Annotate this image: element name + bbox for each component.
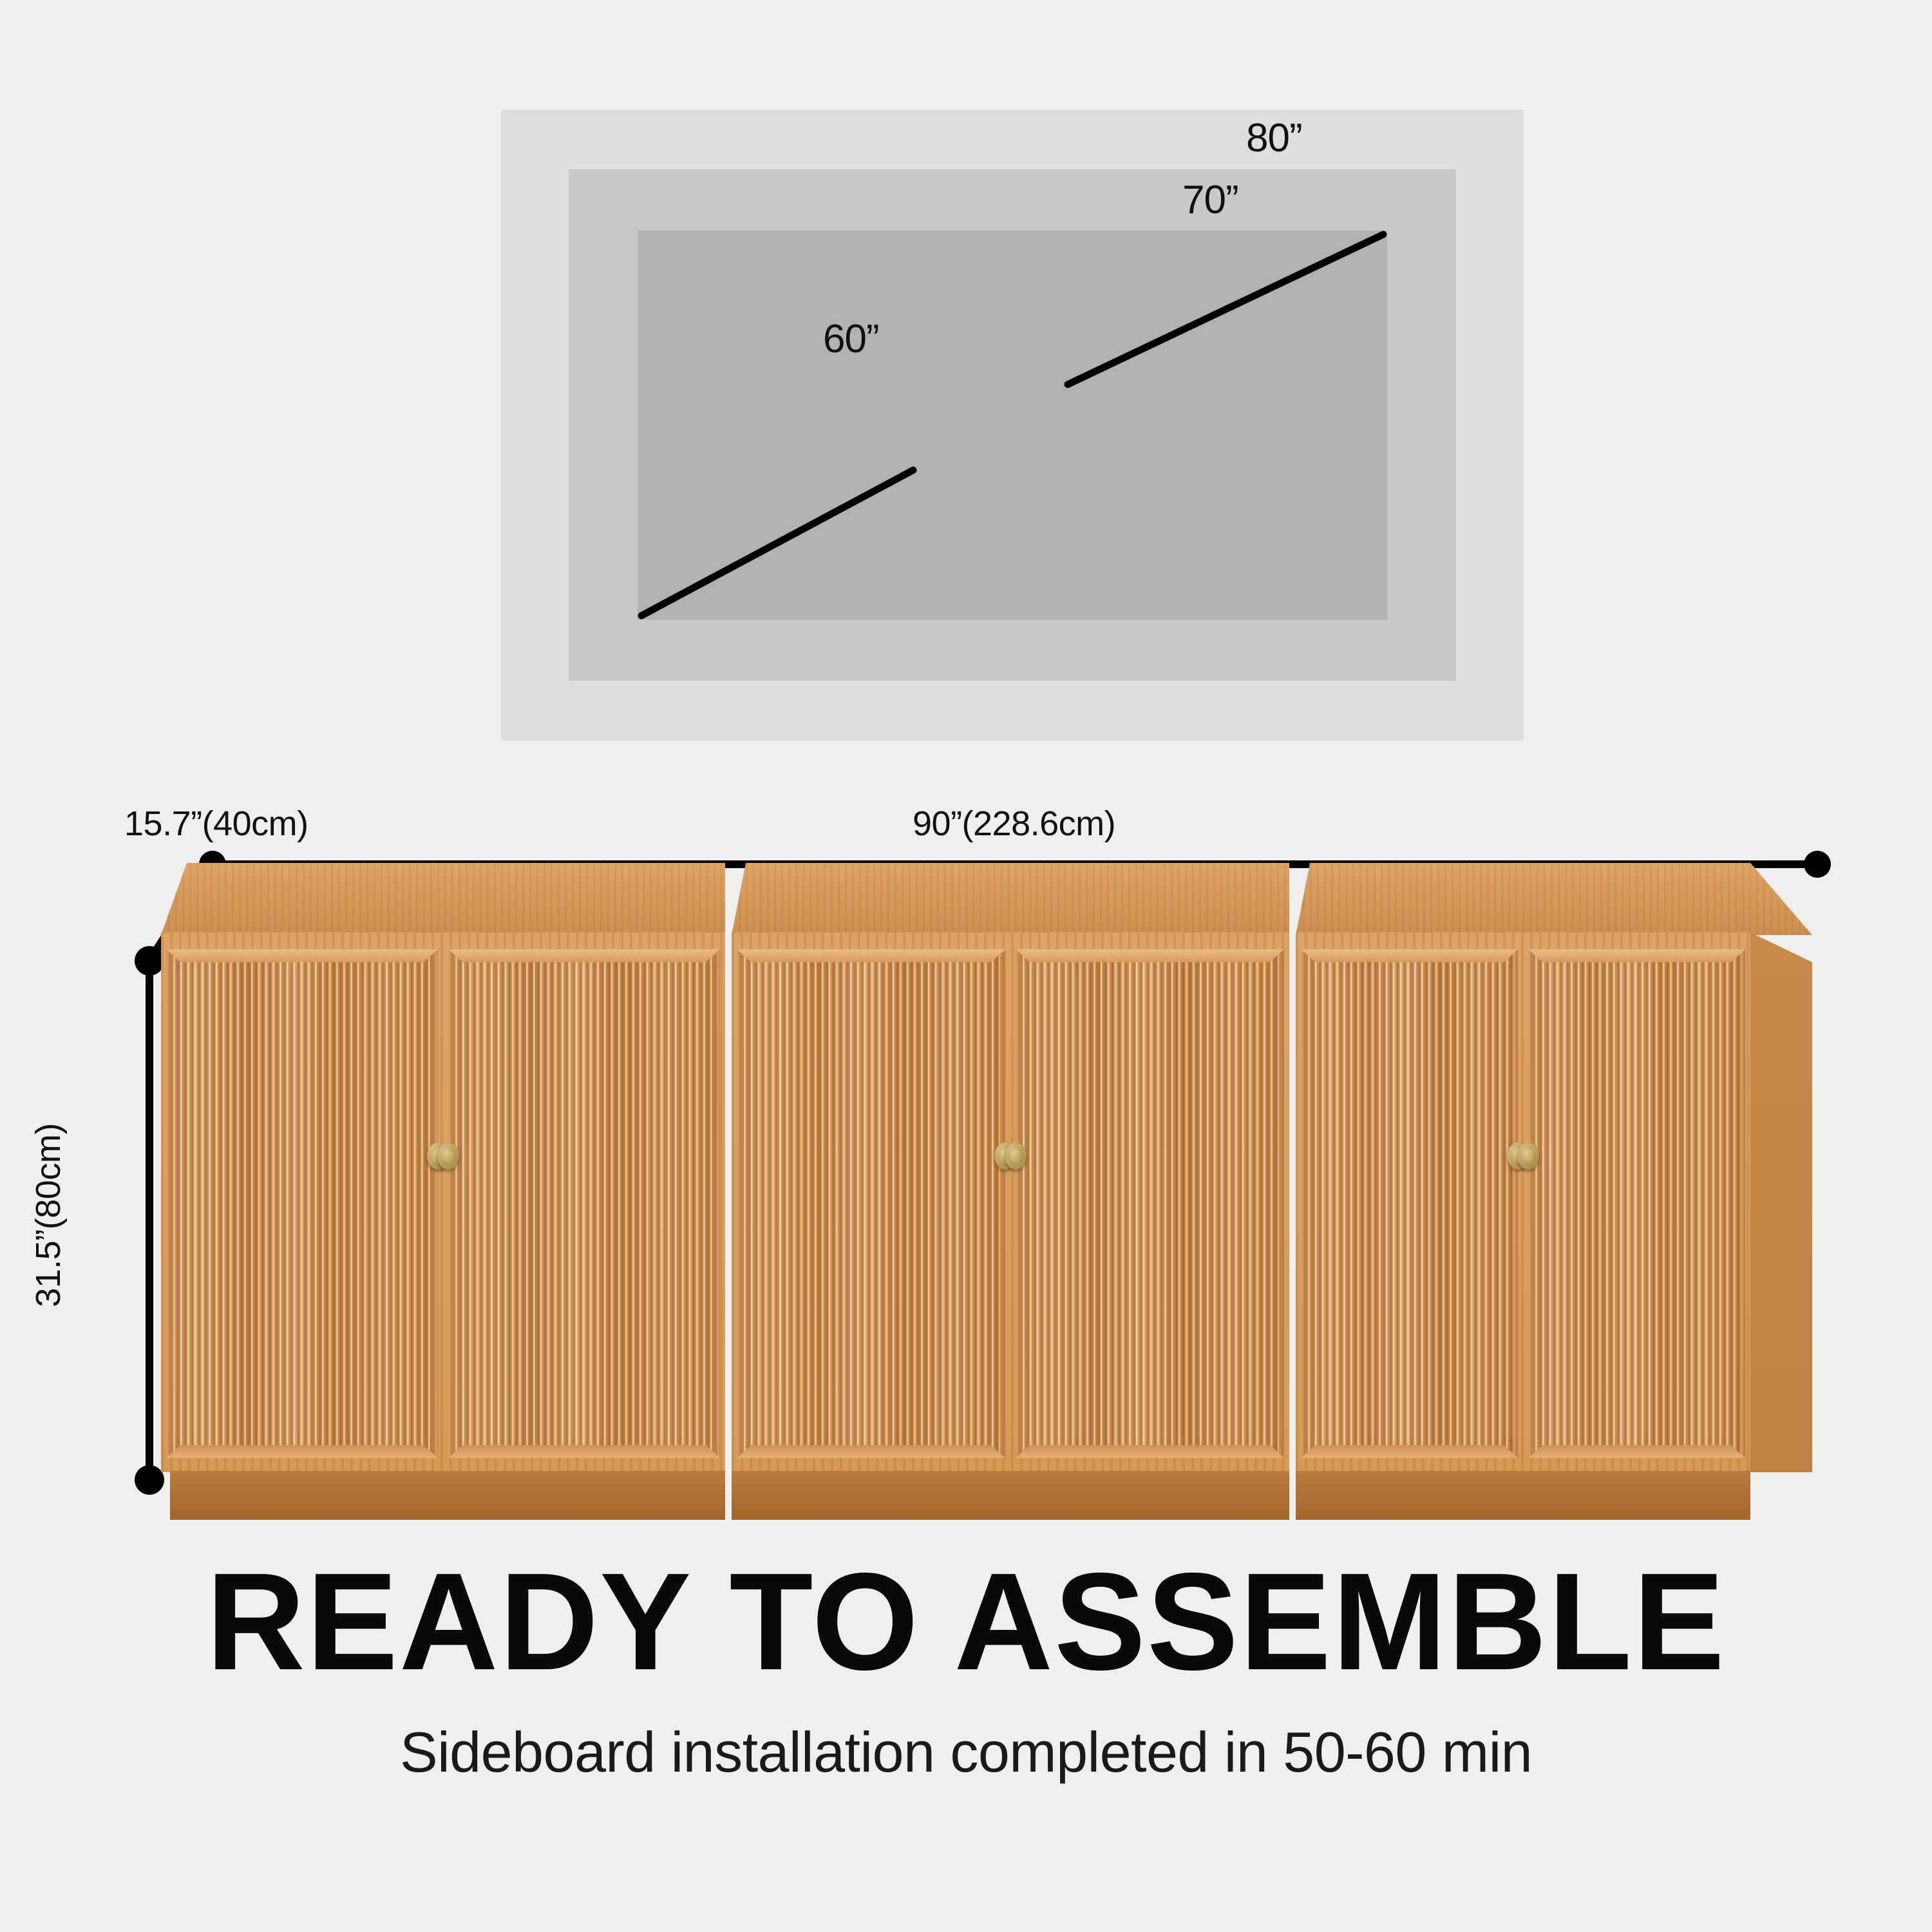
- module-front-carcass: [732, 933, 1289, 1472]
- cabinet-door-1[interactable]: [166, 949, 438, 1458]
- sideboard-module-left: [161, 863, 725, 1520]
- sideboard-product-image: [161, 863, 1812, 1520]
- cabinet-door-6[interactable]: [1528, 949, 1745, 1458]
- cabinet-door-5[interactable]: [1301, 949, 1518, 1458]
- door-knob-2[interactable]: [437, 1142, 459, 1170]
- door-row: [1296, 933, 1750, 1472]
- module-plinth-base: [1296, 1471, 1750, 1520]
- tv-label-70in: 70”: [1182, 180, 1238, 220]
- tv-label-60in: 60”: [823, 319, 879, 359]
- tv-label-80in: 80”: [1246, 118, 1302, 158]
- module-top-surface: [732, 863, 1289, 935]
- module-plinth-base: [732, 1471, 1289, 1520]
- door-knob-6[interactable]: [1517, 1142, 1539, 1170]
- module-side-panel: [1750, 933, 1812, 1472]
- cabinet-door-4[interactable]: [1016, 949, 1284, 1458]
- infographic-canvas: 80” 70” 60” 15.7”(40cm) 90”(228.6cm) 31.…: [0, 0, 1932, 1932]
- door-row: [732, 933, 1289, 1472]
- dimension-label-height: 31.5”(80cm): [31, 1035, 66, 1396]
- marketing-text-block: READY TO ASSEMBLE Sideboard installation…: [0, 1552, 1932, 1781]
- headline-ready-to-assemble: READY TO ASSEMBLE: [10, 1552, 1922, 1690]
- tv-size-compatibility-diagram: 80” 70” 60”: [501, 109, 1524, 741]
- module-top-surface: [161, 863, 725, 935]
- cabinet-door-3[interactable]: [737, 949, 1005, 1458]
- sideboard-module-right: [1296, 863, 1812, 1520]
- dimension-label-depth: 15.7”(40cm): [124, 806, 308, 841]
- tv-size-rect-60in: [638, 231, 1387, 620]
- cabinet-door-2[interactable]: [448, 949, 720, 1458]
- module-plinth-base: [170, 1471, 725, 1520]
- module-front-carcass: [1296, 933, 1750, 1472]
- module-front-carcass: [161, 933, 725, 1472]
- door-row: [161, 933, 725, 1472]
- door-knob-4[interactable]: [1005, 1142, 1027, 1170]
- subheadline-assembly-time: Sideboard installation completed in 50-6…: [0, 1724, 1932, 1781]
- sideboard-dimension-figure: 15.7”(40cm) 90”(228.6cm) 31.5”(80cm): [0, 792, 1932, 1546]
- dimension-label-width: 90”(228.6cm): [913, 806, 1115, 841]
- module-top-surface: [1296, 863, 1812, 935]
- sideboard-module-middle: [732, 863, 1289, 1520]
